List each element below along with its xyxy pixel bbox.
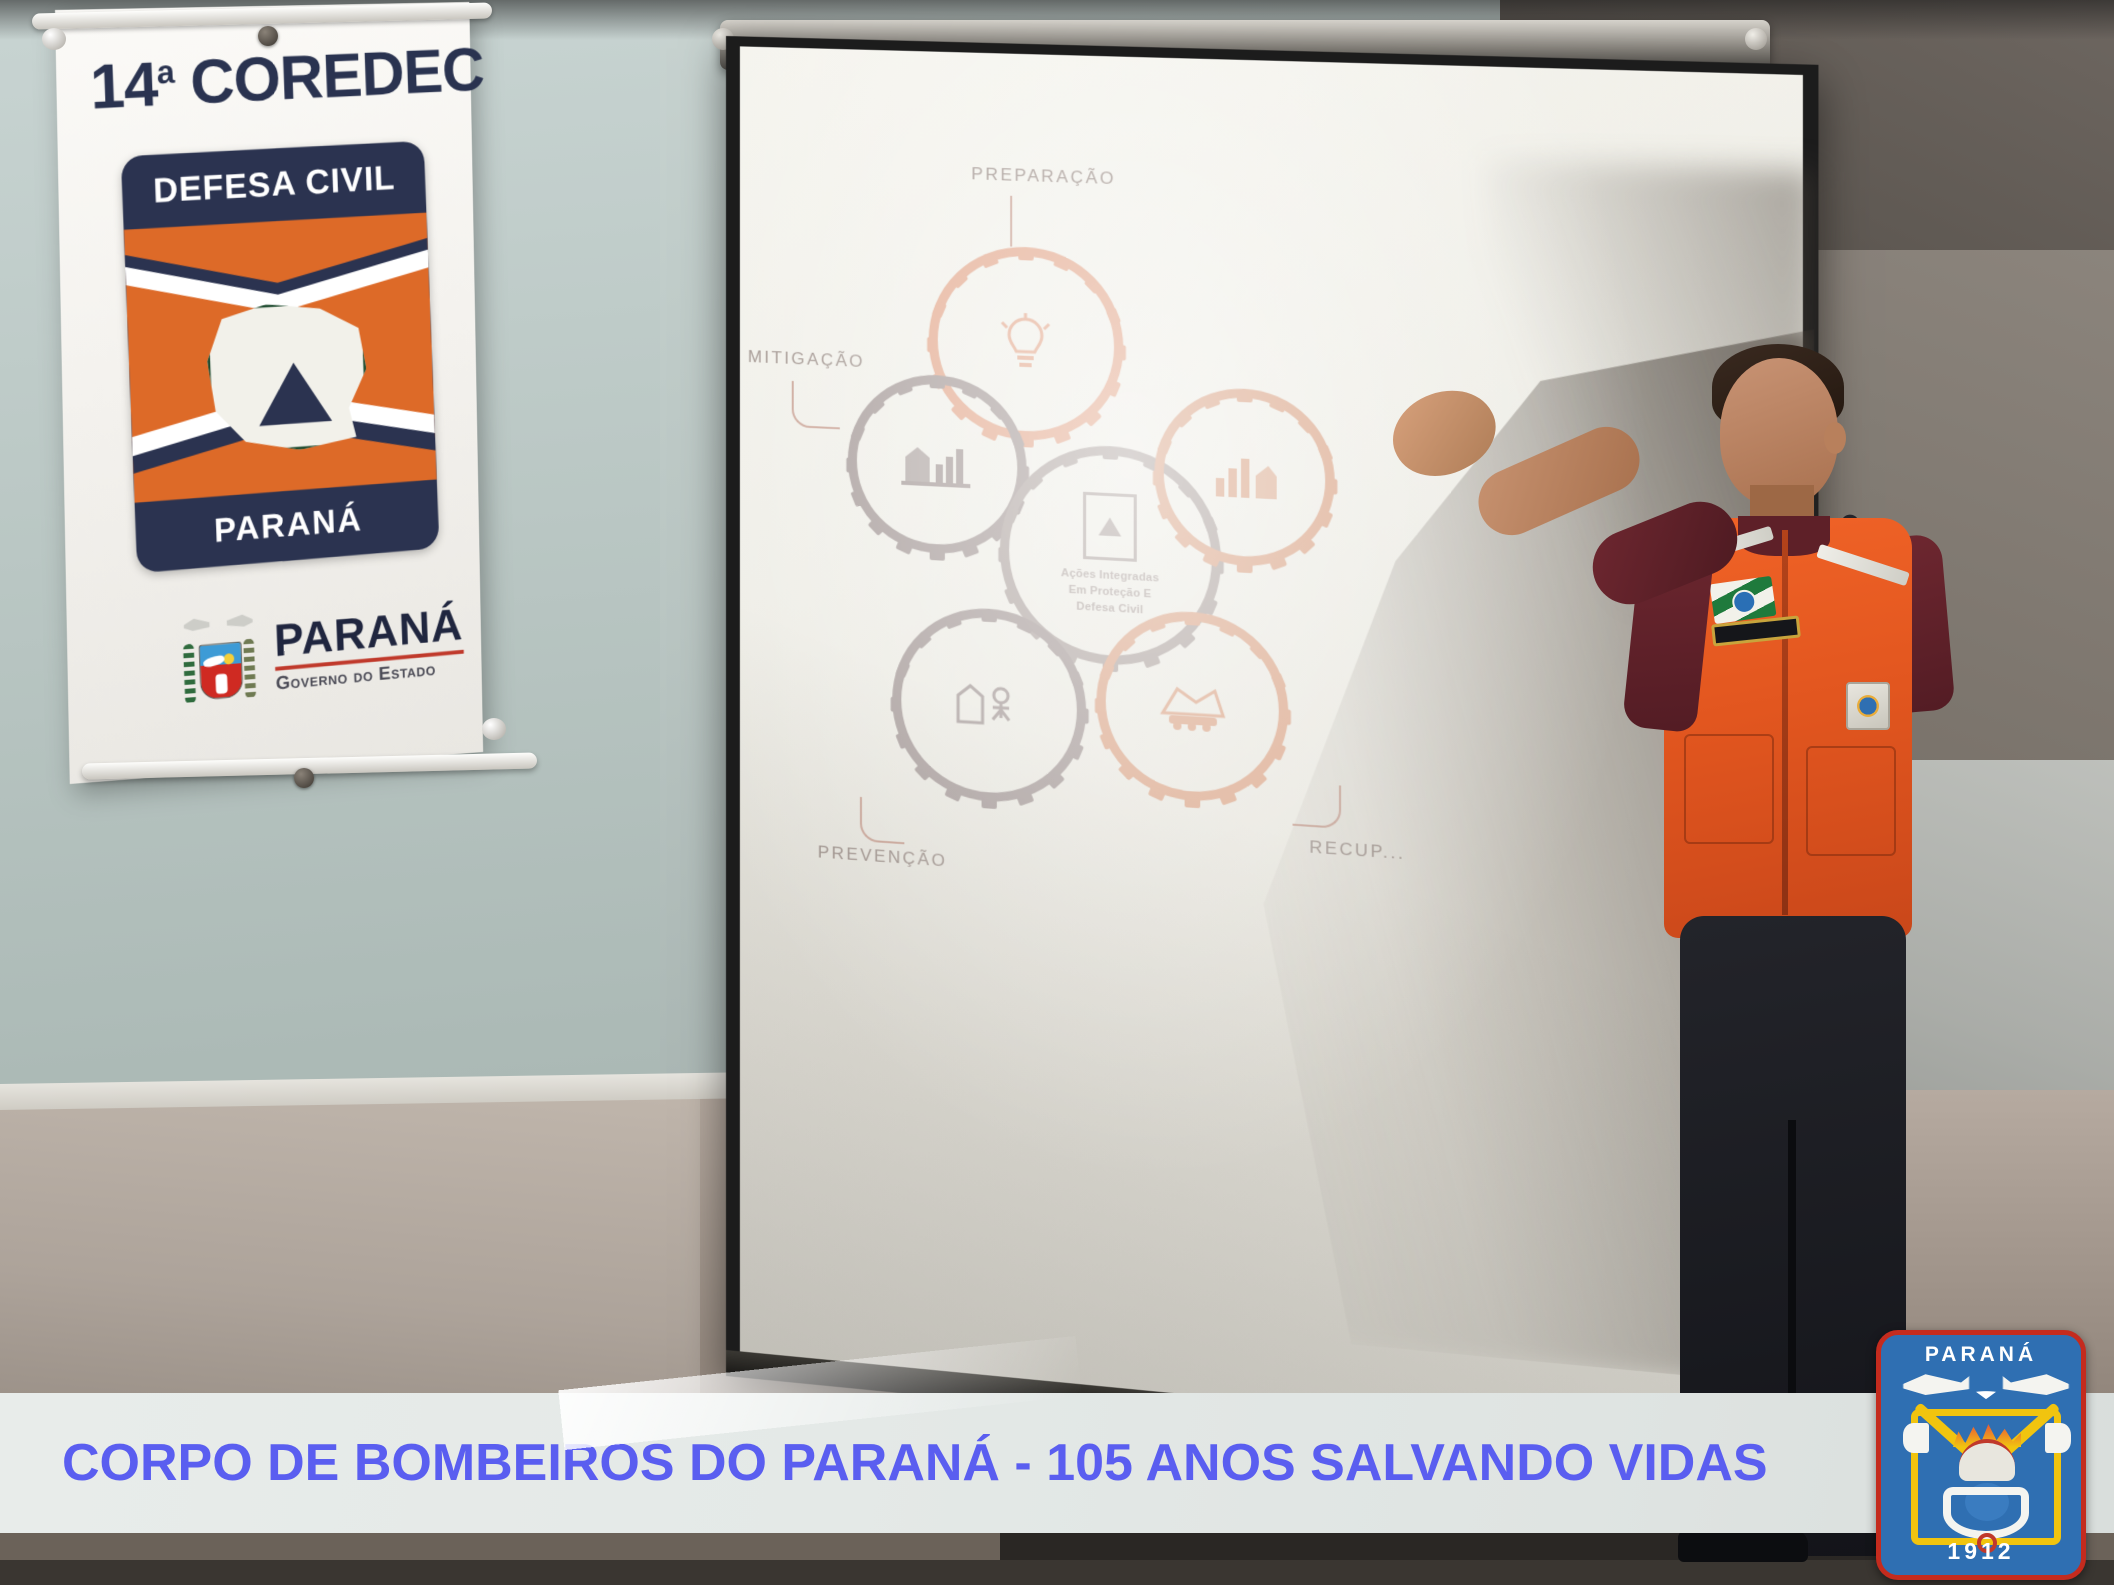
connector-preparacao — [1010, 196, 1012, 247]
parana-coat-of-arms-icon — [172, 604, 265, 718]
defesa-civil-badge: DEFESA CIVIL PARANÁ — [121, 141, 440, 574]
emblem-year: 1912 — [1881, 1538, 2081, 1565]
gear-resposta — [1096, 607, 1288, 807]
axe-head-right — [2045, 1423, 2071, 1453]
presenter-vest-zipper — [1782, 530, 1788, 915]
photo-canvas: PREPARAÇÃO — [0, 0, 2114, 1585]
banner-rod-cap-right — [482, 718, 506, 740]
branch-left — [183, 644, 196, 704]
branch-right — [243, 638, 256, 698]
emblem-top-text: PARANÁ — [1881, 1343, 2081, 1367]
gear-tooth — [998, 547, 1008, 563]
gear-tooth — [1326, 479, 1337, 495]
connector-mitigacao — [792, 381, 840, 429]
wall-lower-left — [0, 1090, 700, 1430]
screen-case-end-right — [1745, 28, 1767, 50]
presenter-ear — [1824, 422, 1846, 454]
gear-tooth — [1115, 345, 1125, 361]
gear-tooth — [1078, 708, 1088, 724]
stage-label-prevencao: PREVENÇÃO — [818, 842, 948, 871]
gear-tooth — [1018, 250, 1033, 261]
presenter-shoe — [1678, 1530, 1808, 1562]
gear-tooth — [1184, 615, 1200, 626]
government-lockup: PARANÁ Governo do Estado — [172, 579, 491, 725]
gear-tooth — [1184, 797, 1200, 808]
banner-title-number: 14 — [89, 50, 159, 123]
gear-tooth — [1236, 392, 1252, 403]
gear-tooth — [927, 337, 937, 353]
banner-rod-cap-left — [42, 28, 66, 50]
gear-prevencao — [892, 603, 1086, 808]
gear-tooth — [1152, 470, 1162, 486]
stage-label-mitigacao: MITIGAÇÃO — [748, 347, 865, 372]
gear-tooth — [1280, 709, 1291, 725]
civil-defense-triangle-icon — [257, 360, 332, 426]
banner-title-ordinal: a — [156, 53, 174, 90]
shield-icon — [199, 642, 244, 701]
floor-strip — [0, 1560, 2114, 1585]
civil-defense-patch — [1846, 682, 1890, 730]
gear-tooth — [981, 798, 996, 809]
gear-tooth — [929, 378, 944, 389]
caption-text: CORPO DE BOMBEIROS DO PARANÁ - 105 ANOS … — [62, 1433, 1768, 1493]
presenter-head — [1720, 358, 1838, 506]
banner-title: 14a COREDEC — [89, 34, 494, 123]
figure-icon — [215, 673, 227, 694]
connector-prevencao — [860, 797, 904, 844]
sun-icon — [223, 653, 234, 665]
wall-screw-top — [258, 26, 278, 46]
gear-tooth — [1102, 449, 1118, 460]
parana-flag-patch — [1710, 576, 1777, 624]
stage-label-preparacao: PREPARAÇÃO — [971, 164, 1116, 189]
wall-screw-bottom — [294, 768, 314, 788]
gear-tooth — [1236, 562, 1252, 573]
gear-tooth — [1094, 698, 1104, 714]
gear-tooth — [890, 697, 900, 713]
gear-tooth — [846, 457, 856, 473]
government-text: PARANÁ Governo do Estado — [273, 601, 465, 695]
vest-pocket-left — [1684, 734, 1774, 844]
axe-head-left — [1903, 1423, 1929, 1453]
coredec-banner: 14a COREDEC DEFESA CIVIL PARANÁ — [55, 2, 483, 784]
defesa-civil-mini-logo — [1083, 492, 1137, 562]
connector-recuperacao — [1293, 782, 1342, 829]
banner-title-text: COREDEC — [189, 35, 485, 117]
gear-tooth — [929, 550, 944, 561]
gear-recuperacao — [1154, 385, 1334, 571]
vest-pocket-right — [1806, 746, 1896, 856]
corpo-de-bombeiros-emblem: PARANÁ 1912 — [1876, 1330, 2086, 1580]
stage-label-recuperacao: RECUP... — [1309, 837, 1405, 864]
gear-tooth — [981, 611, 996, 622]
caption-band: CORPO DE BOMBEIROS DO PARANÁ - 105 ANOS … — [0, 1393, 2114, 1533]
wave-icon — [202, 654, 225, 669]
hose-icon — [1943, 1487, 2029, 1539]
badge-body — [124, 213, 437, 503]
